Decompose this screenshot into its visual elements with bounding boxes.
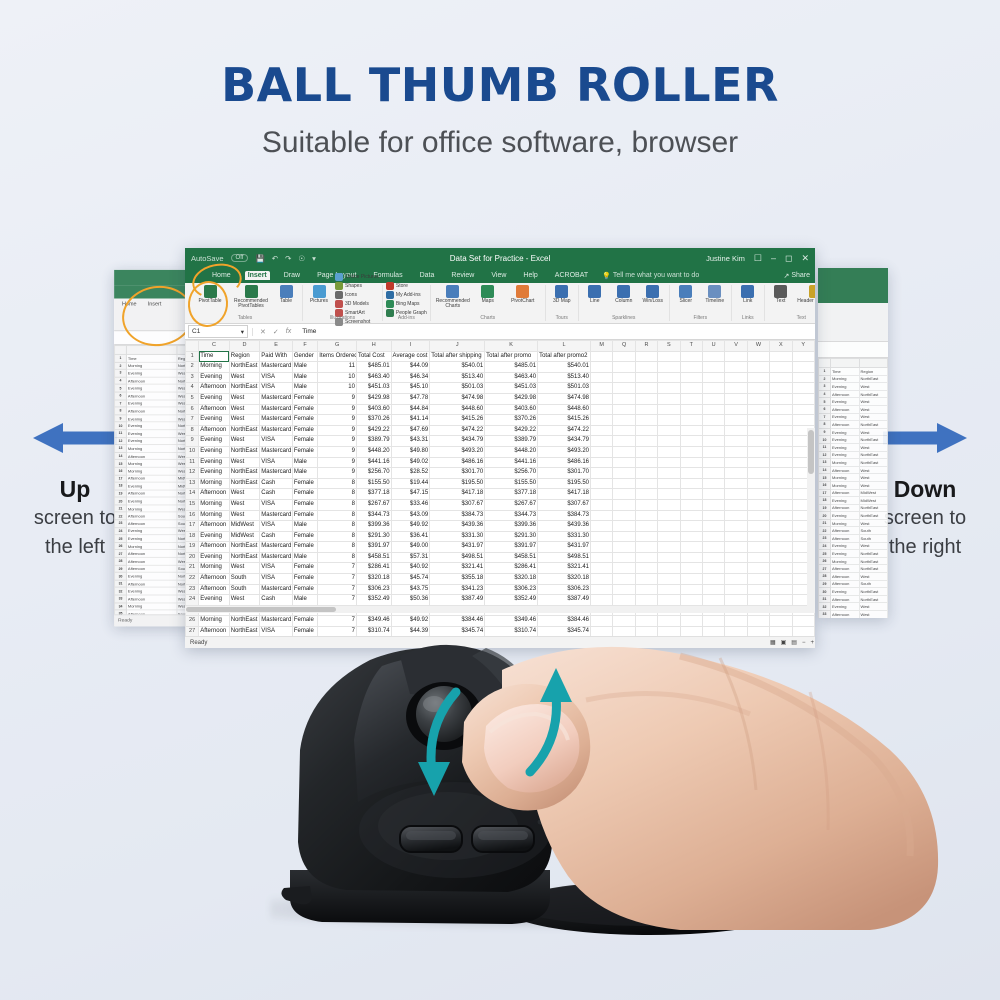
table-row[interactable]: 12EveningNorthEastMastercardMale9$256.70… (186, 468, 815, 479)
data-cell[interactable]: $267.67 (485, 499, 538, 510)
data-cell[interactable]: $46.34 (391, 372, 430, 383)
empty-cell[interactable] (702, 393, 724, 404)
data-cell[interactable]: Morning (199, 616, 230, 627)
data-cell[interactable]: $399.36 (485, 521, 538, 532)
empty-cell[interactable] (635, 510, 657, 521)
ribbon-tab-help[interactable]: Help (520, 271, 540, 280)
data-cell[interactable]: Evening (199, 393, 230, 404)
save-icon[interactable]: 💾 (255, 254, 264, 263)
empty-cell[interactable] (702, 446, 724, 457)
data-cell[interactable]: $306.23 (485, 584, 538, 595)
ribbon-tab-acrobat[interactable]: ACROBAT (552, 271, 591, 280)
empty-cell[interactable] (725, 595, 747, 606)
header-cell[interactable]: Total after promo2 (538, 351, 591, 362)
ribbon-button-online-pictures[interactable]: Online Pictures (335, 273, 379, 281)
data-cell[interactable]: Female (292, 436, 317, 447)
data-cell[interactable]: $448.20 (356, 446, 391, 457)
empty-cell[interactable] (747, 595, 769, 606)
data-cell[interactable]: $321.41 (538, 563, 591, 574)
empty-cell[interactable] (770, 616, 792, 627)
empty-cell[interactable] (680, 542, 702, 553)
row-header-5[interactable]: 5 (186, 393, 199, 404)
check-icon[interactable]: ✓ (273, 328, 279, 336)
empty-cell[interactable] (635, 351, 657, 362)
table-row[interactable]: 7EveningWestMastercardFemale9$370.26$41.… (186, 415, 815, 426)
empty-cell[interactable] (658, 616, 680, 627)
data-cell[interactable]: Afternoon (199, 542, 230, 553)
empty-cell[interactable] (702, 616, 724, 627)
data-cell[interactable]: Female (292, 574, 317, 585)
data-cell[interactable]: West (229, 457, 260, 468)
data-cell[interactable]: NorthEast (229, 478, 260, 489)
data-cell[interactable]: $389.79 (356, 436, 391, 447)
empty-cell[interactable] (658, 521, 680, 532)
data-cell[interactable]: $36.41 (391, 531, 430, 542)
data-cell[interactable]: Male (292, 372, 317, 383)
table-row[interactable]: 8AfternoonNorthEastMastercardFemale9$429… (186, 425, 815, 436)
data-cell[interactable]: $321.41 (430, 563, 485, 574)
data-cell[interactable]: West (229, 404, 260, 415)
empty-cell[interactable] (613, 584, 635, 595)
data-cell[interactable]: Mastercard (260, 552, 293, 563)
data-cell[interactable]: West (229, 415, 260, 426)
data-cell[interactable]: $349.46 (356, 616, 391, 627)
column-header-W[interactable]: W (747, 341, 769, 352)
empty-cell[interactable] (792, 372, 814, 383)
data-cell[interactable]: Morning (199, 362, 230, 373)
data-cell[interactable]: 8 (318, 531, 357, 542)
empty-cell[interactable] (635, 393, 657, 404)
empty-cell[interactable] (591, 521, 613, 532)
empty-cell[interactable] (658, 372, 680, 383)
data-cell[interactable]: Male (292, 383, 317, 394)
empty-cell[interactable] (680, 404, 702, 415)
empty-cell[interactable] (613, 436, 635, 447)
row-header-19[interactable]: 19 (186, 542, 199, 553)
data-cell[interactable]: VISA (260, 521, 293, 532)
empty-cell[interactable] (747, 446, 769, 457)
side-button-forward[interactable] (472, 826, 534, 852)
empty-cell[interactable] (680, 595, 702, 606)
data-cell[interactable]: $291.30 (485, 531, 538, 542)
horizontal-scrollbar[interactable] (185, 606, 807, 613)
empty-cell[interactable] (725, 446, 747, 457)
empty-cell[interactable] (591, 425, 613, 436)
empty-cell[interactable] (613, 362, 635, 373)
empty-cell[interactable] (635, 616, 657, 627)
data-cell[interactable]: $463.40 (485, 372, 538, 383)
data-cell[interactable]: $341.23 (430, 584, 485, 595)
data-cell[interactable]: $448.20 (485, 446, 538, 457)
column-header-M[interactable]: M (591, 341, 613, 352)
data-cell[interactable]: NorthEast (229, 616, 260, 627)
data-cell[interactable]: $307.67 (430, 499, 485, 510)
column-header-T[interactable]: T (680, 341, 702, 352)
data-cell[interactable]: NorthEast (229, 425, 260, 436)
data-cell[interactable]: NorthEast (229, 383, 260, 394)
data-cell[interactable]: Evening (199, 595, 230, 606)
empty-cell[interactable] (635, 531, 657, 542)
empty-cell[interactable] (680, 351, 702, 362)
empty-cell[interactable] (680, 552, 702, 563)
data-cell[interactable]: $451.03 (356, 383, 391, 394)
data-cell[interactable]: Female (292, 393, 317, 404)
column-header-H[interactable]: H (356, 341, 391, 352)
data-cell[interactable]: $286.41 (485, 563, 538, 574)
table-row[interactable]: 1TimeRegionPaid WithGenderItems OrderedT… (186, 351, 815, 362)
empty-cell[interactable] (792, 351, 814, 362)
empty-cell[interactable] (747, 510, 769, 521)
share-button[interactable]: ↗ Share (783, 272, 810, 280)
empty-cell[interactable] (613, 446, 635, 457)
grid-corner[interactable] (186, 341, 199, 352)
data-cell[interactable]: VISA (260, 436, 293, 447)
ribbon-display-icon[interactable]: ☐ (754, 254, 762, 263)
ribbon-button-text[interactable]: Text (768, 285, 794, 304)
empty-cell[interactable] (770, 393, 792, 404)
data-cell[interactable]: Mastercard (260, 584, 293, 595)
column-header-D[interactable]: D (229, 341, 260, 352)
data-cell[interactable]: 7 (318, 595, 357, 606)
data-cell[interactable]: Female (292, 531, 317, 542)
data-cell[interactable]: $195.50 (538, 478, 591, 489)
empty-cell[interactable] (747, 362, 769, 373)
data-cell[interactable]: West (229, 499, 260, 510)
column-header-Q[interactable]: Q (613, 341, 635, 352)
data-cell[interactable]: 10 (318, 383, 357, 394)
data-cell[interactable]: $50.36 (391, 595, 430, 606)
data-cell[interactable]: $474.22 (538, 425, 591, 436)
row-header-21[interactable]: 21 (186, 563, 199, 574)
empty-cell[interactable] (770, 383, 792, 394)
data-cell[interactable]: $377.18 (356, 489, 391, 500)
data-cell[interactable]: $389.79 (485, 436, 538, 447)
ribbon-body[interactable]: PivotTableRecommended PivotTablesTableTa… (185, 283, 815, 324)
empty-cell[interactable] (635, 499, 657, 510)
empty-cell[interactable] (702, 595, 724, 606)
empty-cell[interactable] (591, 446, 613, 457)
undo-icon[interactable]: ↶ (272, 254, 278, 263)
empty-cell[interactable] (658, 468, 680, 479)
empty-cell[interactable] (658, 542, 680, 553)
empty-cell[interactable] (635, 372, 657, 383)
data-cell[interactable]: Morning (199, 510, 230, 521)
empty-cell[interactable] (770, 457, 792, 468)
data-cell[interactable]: 10 (318, 372, 357, 383)
empty-cell[interactable] (747, 468, 769, 479)
ribbon-button-pictures[interactable]: Pictures (306, 285, 332, 304)
empty-cell[interactable] (725, 351, 747, 362)
data-cell[interactable]: Evening (199, 436, 230, 447)
data-cell[interactable]: $49.00 (391, 542, 430, 553)
data-cell[interactable]: $498.51 (430, 552, 485, 563)
table-row[interactable]: 16MorningWestMastercardFemale8$344.73$43… (186, 510, 815, 521)
touch-mode-icon[interactable]: ☉ (298, 254, 305, 263)
data-cell[interactable]: Mastercard (260, 415, 293, 426)
empty-cell[interactable] (613, 531, 635, 542)
table-row[interactable]: 19AfternoonNorthEastMastercardFemale8$39… (186, 542, 815, 553)
data-cell[interactable]: $19.44 (391, 478, 430, 489)
data-cell[interactable]: $431.97 (430, 542, 485, 553)
data-cell[interactable]: 9 (318, 446, 357, 457)
empty-cell[interactable] (635, 457, 657, 468)
excel-window-main[interactable]: AutoSave Off 💾 ↶ ↷ ☉ ▾ Data Set for Prac… (185, 248, 815, 648)
data-cell[interactable]: Evening (199, 552, 230, 563)
empty-cell[interactable] (635, 446, 657, 457)
empty-cell[interactable] (725, 531, 747, 542)
data-cell[interactable]: $49.02 (391, 457, 430, 468)
data-cell[interactable]: $256.70 (485, 468, 538, 479)
data-cell[interactable]: Morning (199, 499, 230, 510)
data-cell[interactable]: Evening (199, 457, 230, 468)
empty-cell[interactable] (725, 404, 747, 415)
data-cell[interactable]: Female (292, 542, 317, 553)
table-row[interactable]: 26MorningNorthEastMastercardFemale7$349.… (186, 616, 815, 627)
empty-cell[interactable] (702, 436, 724, 447)
data-cell[interactable]: $49.92 (391, 521, 430, 532)
table-row[interactable]: 4AfternoonNorthEastVISAMale10$451.03$45.… (186, 383, 815, 394)
data-cell[interactable]: $291.30 (356, 531, 391, 542)
tell-me-box[interactable]: 💡 Tell me what you want to do (602, 272, 699, 280)
empty-cell[interactable] (658, 457, 680, 468)
empty-cell[interactable] (747, 521, 769, 532)
empty-cell[interactable] (747, 425, 769, 436)
data-cell[interactable]: $439.36 (538, 521, 591, 532)
data-cell[interactable]: 8 (318, 521, 357, 532)
header-cell[interactable]: Gender (292, 351, 317, 362)
ribbon-tab-data[interactable]: Data (417, 271, 438, 280)
ribbon-button-pivottable[interactable]: PivotTable (191, 285, 229, 304)
table-row[interactable]: 23AfternoonSouthMastercardFemale7$306.23… (186, 584, 815, 595)
data-cell[interactable]: Cash (260, 478, 293, 489)
autosave-toggle[interactable]: Off (231, 254, 249, 262)
empty-cell[interactable] (725, 372, 747, 383)
cancel-icon[interactable]: ✕ (260, 328, 266, 336)
data-cell[interactable]: $403.60 (485, 404, 538, 415)
table-row[interactable]: 13MorningNorthEastCashFemale8$155.50$19.… (186, 478, 815, 489)
data-cell[interactable]: $355.18 (430, 574, 485, 585)
data-cell[interactable]: 8 (318, 499, 357, 510)
empty-cell[interactable] (702, 542, 724, 553)
empty-cell[interactable] (635, 468, 657, 479)
data-cell[interactable]: Mastercard (260, 510, 293, 521)
ribbon-button-column[interactable]: Column (611, 285, 637, 304)
empty-cell[interactable] (613, 457, 635, 468)
empty-cell[interactable] (658, 425, 680, 436)
data-cell[interactable]: 9 (318, 425, 357, 436)
data-cell[interactable]: Evening (199, 446, 230, 457)
data-cell[interactable]: MidWest (229, 521, 260, 532)
data-cell[interactable]: Female (292, 489, 317, 500)
empty-cell[interactable] (591, 478, 613, 489)
row-header-18[interactable]: 18 (186, 531, 199, 542)
empty-cell[interactable] (770, 446, 792, 457)
data-cell[interactable]: West (229, 510, 260, 521)
empty-cell[interactable] (702, 351, 724, 362)
empty-cell[interactable] (658, 436, 680, 447)
empty-cell[interactable] (613, 468, 635, 479)
empty-cell[interactable] (747, 393, 769, 404)
empty-cell[interactable] (680, 489, 702, 500)
empty-cell[interactable] (770, 574, 792, 585)
data-cell[interactable]: VISA (260, 563, 293, 574)
data-cell[interactable]: West (229, 393, 260, 404)
ribbon-tab-insert[interactable]: Insert (245, 271, 270, 280)
header-cell[interactable]: Paid With (260, 351, 293, 362)
data-cell[interactable]: Evening (199, 415, 230, 426)
empty-cell[interactable] (680, 415, 702, 426)
empty-cell[interactable] (658, 552, 680, 563)
table-row[interactable]: 6AfternoonWestMastercardFemale9$403.60$4… (186, 404, 815, 415)
row-header-17[interactable]: 17 (186, 521, 199, 532)
empty-cell[interactable] (658, 404, 680, 415)
empty-cell[interactable] (635, 563, 657, 574)
empty-cell[interactable] (725, 468, 747, 479)
data-cell[interactable]: Morning (199, 563, 230, 574)
data-cell[interactable]: Male (292, 457, 317, 468)
empty-cell[interactable] (770, 425, 792, 436)
empty-cell[interactable] (591, 383, 613, 394)
empty-cell[interactable] (725, 478, 747, 489)
data-cell[interactable]: Mastercard (260, 616, 293, 627)
data-cell[interactable]: NorthEast (229, 552, 260, 563)
empty-cell[interactable] (747, 404, 769, 415)
table-row[interactable]: 24EveningWestCashMale7$352.49$50.36$387.… (186, 595, 815, 606)
data-cell[interactable]: $306.23 (538, 584, 591, 595)
data-cell[interactable]: $43.09 (391, 510, 430, 521)
data-cell[interactable]: $448.60 (430, 404, 485, 415)
data-cell[interactable]: Evening (199, 531, 230, 542)
data-cell[interactable]: Afternoon (199, 425, 230, 436)
empty-cell[interactable] (770, 510, 792, 521)
table-row[interactable]: 14AfternoonWestCashFemale8$377.18$47.15$… (186, 489, 815, 500)
data-cell[interactable]: $501.03 (538, 383, 591, 394)
column-header-V[interactable]: V (725, 341, 747, 352)
empty-cell[interactable] (747, 351, 769, 362)
row-header-20[interactable]: 20 (186, 552, 199, 563)
data-cell[interactable]: Afternoon (199, 584, 230, 595)
data-cell[interactable]: $370.26 (356, 415, 391, 426)
empty-cell[interactable] (747, 489, 769, 500)
empty-cell[interactable] (658, 574, 680, 585)
data-cell[interactable]: $352.49 (485, 595, 538, 606)
data-cell[interactable]: $47.69 (391, 425, 430, 436)
empty-cell[interactable] (680, 468, 702, 479)
data-cell[interactable]: VISA (260, 499, 293, 510)
close-icon[interactable]: ✕ (801, 254, 809, 263)
empty-cell[interactable] (680, 478, 702, 489)
ribbon-button-3d-map[interactable]: 3D Map (549, 285, 575, 304)
data-cell[interactable]: $384.46 (430, 616, 485, 627)
data-cell[interactable]: $391.97 (485, 542, 538, 553)
empty-cell[interactable] (702, 478, 724, 489)
empty-cell[interactable] (680, 383, 702, 394)
data-cell[interactable]: 9 (318, 457, 357, 468)
row-header-15[interactable]: 15 (186, 499, 199, 510)
data-cell[interactable]: Mastercard (260, 446, 293, 457)
data-cell[interactable]: Male (292, 595, 317, 606)
data-cell[interactable]: West (229, 489, 260, 500)
data-cell[interactable]: Male (292, 362, 317, 373)
data-cell[interactable]: $384.73 (538, 510, 591, 521)
redo-icon[interactable]: ↷ (285, 254, 291, 263)
empty-cell[interactable] (591, 584, 613, 595)
empty-cell[interactable] (635, 595, 657, 606)
row-header-8[interactable]: 8 (186, 425, 199, 436)
empty-cell[interactable] (725, 563, 747, 574)
vertical-scroll-thumb[interactable] (808, 430, 814, 474)
table-row[interactable]: 22AfternoonSouthVISAFemale7$320.18$45.74… (186, 574, 815, 585)
data-cell[interactable]: $486.16 (430, 457, 485, 468)
formula-bar[interactable]: C1 ▾ ✕ ✓ fx Time (185, 324, 815, 340)
empty-cell[interactable] (770, 478, 792, 489)
empty-cell[interactable] (658, 415, 680, 426)
empty-cell[interactable] (770, 584, 792, 595)
data-cell[interactable]: $301.70 (538, 468, 591, 479)
empty-cell[interactable] (613, 616, 635, 627)
empty-cell[interactable] (725, 383, 747, 394)
data-cell[interactable]: 8 (318, 510, 357, 521)
data-cell[interactable]: $540.01 (538, 362, 591, 373)
data-cell[interactable]: Mastercard (260, 362, 293, 373)
empty-cell[interactable] (613, 563, 635, 574)
empty-cell[interactable] (658, 446, 680, 457)
data-cell[interactable]: Mastercard (260, 393, 293, 404)
data-cell[interactable]: $391.97 (356, 542, 391, 553)
data-cell[interactable]: $307.67 (538, 499, 591, 510)
data-cell[interactable]: $44.09 (391, 362, 430, 373)
data-cell[interactable]: $399.36 (356, 521, 391, 532)
ribbon-button-link[interactable]: Link (735, 285, 761, 304)
data-cell[interactable]: 8 (318, 552, 357, 563)
empty-cell[interactable] (591, 489, 613, 500)
data-cell[interactable]: $474.22 (430, 425, 485, 436)
data-cell[interactable]: $429.22 (485, 425, 538, 436)
data-cell[interactable]: West (229, 595, 260, 606)
data-cell[interactable]: $45.74 (391, 574, 430, 585)
empty-cell[interactable] (770, 595, 792, 606)
data-cell[interactable]: Afternoon (199, 521, 230, 532)
empty-cell[interactable] (591, 404, 613, 415)
empty-cell[interactable] (725, 574, 747, 585)
empty-cell[interactable] (702, 563, 724, 574)
empty-cell[interactable] (770, 563, 792, 574)
data-cell[interactable]: Female (292, 415, 317, 426)
empty-cell[interactable] (770, 351, 792, 362)
data-cell[interactable]: $434.79 (538, 436, 591, 447)
data-cell[interactable]: South (229, 574, 260, 585)
data-cell[interactable]: $301.70 (430, 468, 485, 479)
column-header-Y[interactable]: Y (792, 341, 814, 352)
data-cell[interactable]: West (229, 563, 260, 574)
user-name[interactable]: Justine Kim (706, 254, 745, 263)
header-cell[interactable]: Total Cost (356, 351, 391, 362)
data-cell[interactable]: $415.26 (538, 415, 591, 426)
empty-cell[interactable] (725, 499, 747, 510)
data-cell[interactable]: $403.60 (356, 404, 391, 415)
ribbon-tab-home[interactable]: Home (209, 271, 234, 280)
data-cell[interactable]: $417.18 (430, 489, 485, 500)
empty-cell[interactable] (747, 457, 769, 468)
fx-icon[interactable]: fx (286, 328, 291, 336)
empty-cell[interactable] (702, 584, 724, 595)
row-header-23[interactable]: 23 (186, 584, 199, 595)
empty-cell[interactable] (591, 415, 613, 426)
data-cell[interactable]: $513.40 (430, 372, 485, 383)
data-cell[interactable]: 9 (318, 404, 357, 415)
data-cell[interactable]: Female (292, 616, 317, 627)
data-cell[interactable]: $493.20 (430, 446, 485, 457)
